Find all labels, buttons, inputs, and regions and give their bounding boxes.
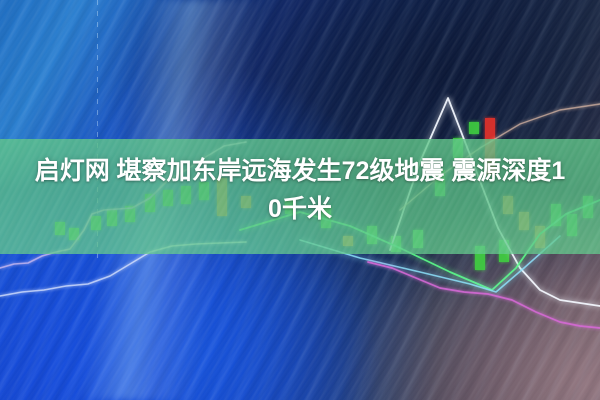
headline-line-2: 0千米: [12, 190, 588, 228]
headline-line-1: 启灯网 堪察加东岸远海发生72级地震 震源深度1: [12, 152, 588, 190]
news-thumbnail-image: 启灯网 堪察加东岸远海发生72级地震 震源深度1 0千米: [0, 0, 600, 400]
headline-text: 启灯网 堪察加东岸远海发生72级地震 震源深度1 0千米: [0, 152, 600, 228]
